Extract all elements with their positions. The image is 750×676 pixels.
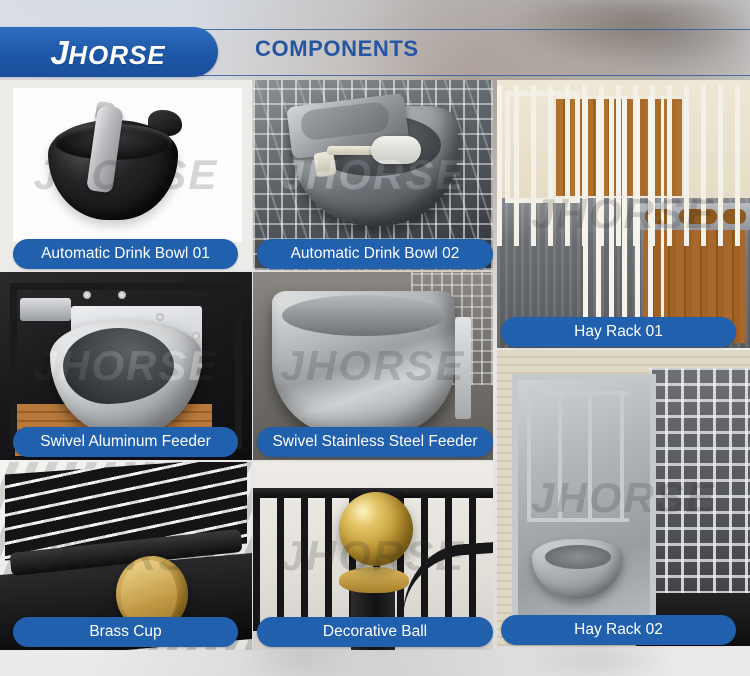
product-label-swivel-aluminum-feeder[interactable]: Swivel Aluminum Feeder [13,427,238,457]
product-label-automatic-drink-bowl-01[interactable]: Automatic Drink Bowl 01 [13,239,238,269]
hay-rack-bars [527,391,628,521]
page-title: COMPONENTS [255,36,419,62]
product-label-automatic-drink-bowl-02[interactable]: Automatic Drink Bowl 02 [257,239,493,269]
brand-logo-word: HORSE [68,42,165,68]
product-label-hay-rack-01[interactable]: Hay Rack 01 [501,317,736,347]
brand-logo-initial: J [50,36,68,69]
product-card-hay-rack-01[interactable]: JHORSE [497,80,750,348]
product-image-hay-rack-02: JHORSE [497,350,750,646]
product-grid: JHORSE Automatic Drink Bowl 01 JHORSE Au… [0,80,750,676]
product-label-swivel-stainless-steel-feeder[interactable]: Swivel Stainless Steel Feeder [257,427,493,457]
page-header: JHORSE COMPONENTS [0,0,750,80]
product-label-decorative-ball[interactable]: Decorative Ball [257,617,493,647]
product-label-hay-rack-02[interactable]: Hay Rack 02 [501,615,736,645]
product-card-hay-rack-02[interactable]: JHORSE [497,350,750,646]
components-catalog-page: JHORSE COMPONENTS JHORSE Automatic Drink… [0,0,750,676]
brand-logo[interactable]: JHORSE [0,27,218,77]
product-image-hay-rack-01: JHORSE [497,80,750,348]
product-label-brass-cup[interactable]: Brass Cup [13,617,238,647]
brand-logo-text: JHORSE [38,36,165,69]
